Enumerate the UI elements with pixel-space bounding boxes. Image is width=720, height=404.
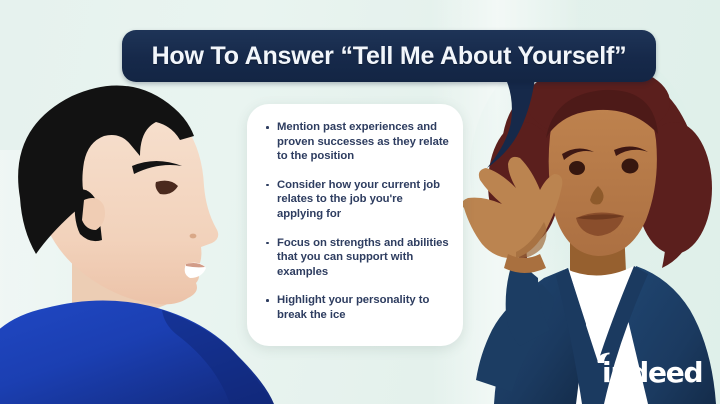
tips-card: Mention past experiences and proven succ… [247, 104, 463, 346]
page-title: How To Answer “Tell Me About Yourself” [152, 42, 627, 71]
indeed-wordmark: indeed [602, 356, 702, 389]
list-item: Mention past experiences and proven succ… [265, 120, 451, 164]
list-item: Consider how your current job relates to… [265, 178, 451, 222]
infographic-canvas: How To Answer “Tell Me About Yourself” M… [0, 0, 720, 404]
indeed-logo: indeed [584, 350, 704, 390]
speech-bubble-tail [477, 78, 567, 170]
title-banner: How To Answer “Tell Me About Yourself” [122, 30, 656, 82]
list-item: Highlight your personality to break the … [265, 293, 451, 322]
tips-list: Mention past experiences and proven succ… [265, 120, 451, 323]
list-item: Focus on strengths and abilities that yo… [265, 236, 451, 280]
man-profile-illustration [0, 78, 280, 404]
